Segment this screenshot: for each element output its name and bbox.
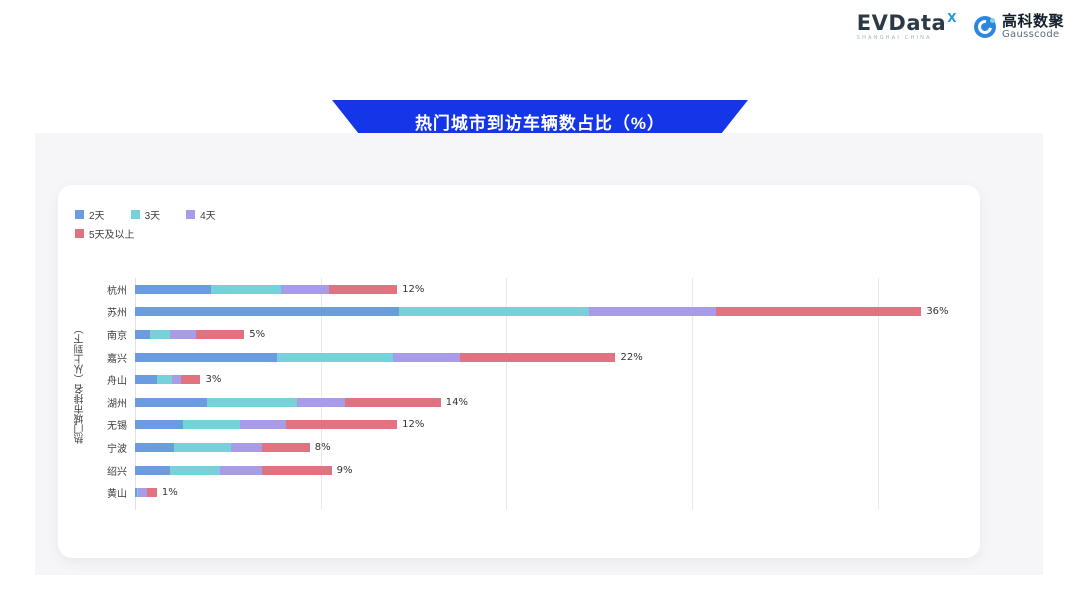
legend-label: 2天 xyxy=(89,207,105,222)
legend-label: 3天 xyxy=(145,207,161,222)
bar-segment[interactable] xyxy=(220,466,261,475)
evdata-wordmark-text: EVData xyxy=(857,11,946,35)
bar-value-label: 12% xyxy=(402,284,424,295)
legend-swatch-icon xyxy=(131,210,140,219)
bar-segment[interactable] xyxy=(262,443,310,452)
legend-label: 4天 xyxy=(200,207,216,222)
bar-value-label: 3% xyxy=(206,374,222,385)
page-title: 热门城市到访车辆数占比（%） xyxy=(415,109,665,134)
evdata-wordmark: EVDataX xyxy=(857,13,956,34)
bar-segment[interactable] xyxy=(150,330,170,339)
bar-segment[interactable] xyxy=(460,353,615,362)
bar-segment[interactable] xyxy=(329,285,397,294)
bar-segment[interactable] xyxy=(196,330,244,339)
bar-rows: 杭州12%苏州36%南京5%嘉兴22%舟山3%湖州14%无锡12%宁波8%绍兴9… xyxy=(135,278,965,510)
bar-segment[interactable] xyxy=(135,375,157,384)
bar-row[interactable]: 苏州36% xyxy=(135,301,965,324)
bar-segment[interactable] xyxy=(207,398,297,407)
bar-segment[interactable] xyxy=(281,285,329,294)
evdata-subtitle: SHANGHAI CHINA xyxy=(857,36,932,41)
bar-segment[interactable] xyxy=(135,466,170,475)
bar-segment[interactable] xyxy=(231,443,262,452)
category-label: 黄山 xyxy=(107,485,127,500)
gausscode-mark-icon xyxy=(974,16,996,38)
legend-item[interactable]: 4天 xyxy=(186,207,216,222)
bar-row[interactable]: 宁波8% xyxy=(135,436,965,459)
stacked-bar[interactable] xyxy=(135,443,310,452)
legend-swatch-icon xyxy=(75,229,84,238)
bar-segment[interactable] xyxy=(170,466,220,475)
bar-segment[interactable] xyxy=(211,285,281,294)
bar-segment[interactable] xyxy=(183,420,240,429)
legend-item[interactable]: 5天及以上 xyxy=(75,226,375,241)
bar-row[interactable]: 湖州14% xyxy=(135,391,965,414)
stacked-bar[interactable] xyxy=(135,330,244,339)
bar-segment[interactable] xyxy=(174,443,231,452)
bar-segment[interactable] xyxy=(172,375,181,384)
legend-item[interactable]: 2天 xyxy=(75,207,105,222)
bar-row[interactable]: 舟山3% xyxy=(135,368,965,391)
bar-segment[interactable] xyxy=(135,443,174,452)
gausscode-logo: 高科数聚 Gausscode xyxy=(974,14,1064,40)
stacked-bar[interactable] xyxy=(135,488,157,497)
bar-row[interactable]: 杭州12% xyxy=(135,278,965,301)
bar-segment[interactable] xyxy=(138,488,147,497)
bar-segment[interactable] xyxy=(589,307,716,316)
bar-row[interactable]: 嘉兴22% xyxy=(135,346,965,369)
bar-segment[interactable] xyxy=(240,420,286,429)
stacked-bar[interactable] xyxy=(135,375,201,384)
category-label: 舟山 xyxy=(107,372,127,387)
category-label: 无锡 xyxy=(107,417,127,432)
stacked-bar[interactable] xyxy=(135,353,616,362)
brand-logos: EVDataX SHANGHAI CHINA 高科数聚 Gausscode xyxy=(857,13,1064,41)
bar-row[interactable]: 无锡12% xyxy=(135,414,965,437)
bar-segment[interactable] xyxy=(135,307,399,316)
bar-value-label: 12% xyxy=(402,419,424,430)
stacked-bar[interactable] xyxy=(135,420,397,429)
gausscode-name-cn: 高科数聚 xyxy=(1002,14,1064,30)
stacked-bar[interactable] xyxy=(135,285,397,294)
bar-segment[interactable] xyxy=(135,353,277,362)
category-label: 绍兴 xyxy=(107,463,127,478)
bar-segment[interactable] xyxy=(135,285,211,294)
plot-area: 杭州12%苏州36%南京5%嘉兴22%舟山3%湖州14%无锡12%宁波8%绍兴9… xyxy=(135,278,965,510)
bar-segment[interactable] xyxy=(286,420,397,429)
bar-segment[interactable] xyxy=(147,488,157,497)
category-label: 苏州 xyxy=(107,304,127,319)
bar-row[interactable]: 南京5% xyxy=(135,323,965,346)
bar-segment[interactable] xyxy=(393,353,461,362)
bar-segment[interactable] xyxy=(262,466,332,475)
bar-segment[interactable] xyxy=(181,375,201,384)
bar-value-label: 8% xyxy=(315,442,331,453)
bar-value-label: 36% xyxy=(926,306,948,317)
stacked-bar[interactable] xyxy=(135,307,921,316)
bar-segment[interactable] xyxy=(399,307,589,316)
stacked-bar[interactable] xyxy=(135,466,332,475)
category-label: 嘉兴 xyxy=(107,350,127,365)
bar-segment[interactable] xyxy=(135,398,207,407)
legend-item[interactable]: 3天 xyxy=(131,207,161,222)
category-label: 南京 xyxy=(107,327,127,342)
bar-value-label: 5% xyxy=(249,329,265,340)
stacked-bar-chart: 热门城市排名（从上到下） 杭州12%苏州36%南京5%嘉兴22%舟山3%湖州14… xyxy=(75,278,965,510)
bar-row[interactable]: 绍兴9% xyxy=(135,459,965,482)
bar-segment[interactable] xyxy=(135,330,150,339)
bar-segment[interactable] xyxy=(135,420,183,429)
legend-swatch-icon xyxy=(75,210,84,219)
legend-swatch-icon xyxy=(186,210,195,219)
y-axis-title: 热门城市排名（从上到下） xyxy=(73,324,87,444)
legend-label: 5天及以上 xyxy=(89,226,135,241)
category-label: 杭州 xyxy=(107,282,127,297)
bar-value-label: 1% xyxy=(162,487,178,498)
bar-segment[interactable] xyxy=(157,375,172,384)
chart-legend: 2天3天4天5天及以上 xyxy=(75,207,375,245)
bar-segment[interactable] xyxy=(345,398,441,407)
bar-segment[interactable] xyxy=(297,398,345,407)
stacked-bar[interactable] xyxy=(135,398,441,407)
evdata-x-mark: X xyxy=(947,11,957,25)
bar-value-label: 22% xyxy=(621,352,643,363)
bar-row[interactable]: 黄山1% xyxy=(135,481,965,504)
category-label: 湖州 xyxy=(107,395,127,410)
bar-value-label: 9% xyxy=(337,465,353,476)
bar-value-label: 14% xyxy=(446,397,468,408)
gausscode-text: 高科数聚 Gausscode xyxy=(1002,14,1064,40)
category-label: 宁波 xyxy=(107,440,127,455)
bar-segment[interactable] xyxy=(277,353,393,362)
bar-segment[interactable] xyxy=(170,330,196,339)
gausscode-name-en: Gausscode xyxy=(1002,30,1064,41)
evdata-logo: EVDataX SHANGHAI CHINA xyxy=(857,13,956,41)
bar-segment[interactable] xyxy=(716,307,921,316)
